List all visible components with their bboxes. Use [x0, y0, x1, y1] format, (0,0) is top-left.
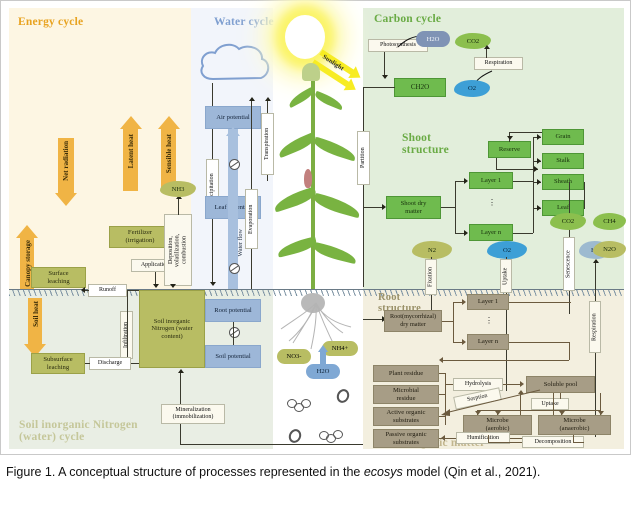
o2-cloud-carbon: O2	[454, 80, 490, 97]
stalk-box: Stalk	[542, 153, 584, 169]
anaerobic-down	[573, 435, 574, 442]
stalk-arrowhead	[537, 158, 541, 164]
discharge-label: Discharge	[89, 357, 131, 370]
uptake-arrow-d	[598, 411, 604, 415]
runoff-right-line	[127, 290, 139, 291]
grain-box: Grain	[542, 129, 584, 145]
root-soil-connector	[233, 322, 234, 345]
uptake-arrow-c	[559, 411, 565, 415]
root-uptake-arrow	[320, 351, 326, 366]
water-flow-label: Water flow	[237, 229, 244, 257]
maize-tassel-icon	[302, 63, 320, 81]
respiration-label-soil: Respiration	[589, 301, 601, 353]
shoot-organ-trunk	[533, 137, 534, 233]
plant-residue-out	[439, 373, 445, 374]
runoff-label: Runoff	[88, 284, 127, 297]
reserve-to-grain-line	[509, 132, 542, 133]
root-branch-h	[442, 321, 453, 322]
figure-caption: Figure 1. A conceptual structure of proc…	[6, 464, 627, 481]
decomposition-to-aerobic	[488, 442, 522, 443]
microbe-doodle-3	[301, 399, 311, 408]
soil-inorganic-n-box: Soil inorganic Nitrogen (water content)	[139, 290, 205, 368]
hydrolysis-to-soluble	[503, 384, 521, 385]
aerobic-to-resp	[520, 393, 521, 415]
shoot-layer1-arrowhead	[464, 178, 468, 184]
layer1-out-line	[513, 181, 533, 182]
plant-residue-arrowhead	[439, 357, 443, 363]
sensible-heat-label: Sensible heat	[165, 134, 173, 173]
aerobic-resp-arrowhead	[518, 390, 524, 394]
sun-icon	[285, 15, 325, 59]
root-layers-ellipsis: ⋮	[485, 318, 493, 324]
precipitation-arrowhead	[210, 282, 216, 286]
soil-heat-label: Soil heat	[32, 301, 40, 327]
no3-pill: NO3-	[277, 349, 311, 364]
soluble-down	[560, 393, 561, 399]
air-potential-box: Air potential	[205, 106, 261, 129]
runoff-arrowhead	[81, 287, 85, 293]
latent-heat-label: Latent heat	[127, 134, 135, 168]
shoot-dry-matter-box: Shoot dry matter	[386, 196, 441, 219]
shoot-layern-arrowhead	[464, 230, 468, 236]
reserve-bottom-arrowhead	[534, 166, 538, 172]
shoot-branch-v	[455, 181, 456, 233]
deposition-up-line	[178, 199, 179, 215]
reserve-box: Reserve	[488, 141, 531, 158]
soluble-pool-arrowhead	[520, 381, 524, 387]
root-layern-arrowhead	[462, 339, 466, 345]
fertilizer-box: Fertilizer (irrigation)	[109, 226, 171, 248]
ch2o-to-partition-line	[363, 87, 395, 88]
ch4-cloud: CH4	[593, 213, 626, 230]
nh3-cloud: NH3	[160, 181, 196, 197]
respiration-soil-arrowhead	[593, 259, 599, 263]
subsurface-leaching-box: Subsurface leaching	[31, 353, 85, 374]
latent-heat-head	[120, 116, 142, 129]
deposition-down-arrowhead	[170, 284, 176, 288]
n2-cloud: N2	[412, 241, 452, 259]
h2o-pill-root: H2O	[306, 364, 340, 379]
humification-arrowhead	[441, 435, 445, 441]
mineralization-label: Mineralization (immobilization)	[161, 404, 225, 424]
n2o-cloud: N2O	[593, 241, 626, 258]
plant-residue-box: Plant residue	[373, 365, 439, 382]
transpiration-label: Transpiration	[261, 113, 274, 175]
model-name: ecosys	[364, 465, 403, 479]
root-layer-n-box: Layer n	[467, 334, 509, 350]
shoot-branch-h	[441, 207, 455, 208]
fixation-label: Fixation	[425, 259, 437, 295]
residue-to-hydrolysis	[445, 384, 453, 385]
leaf-out-line	[584, 208, 585, 209]
water-flow-head	[226, 127, 240, 136]
root-potential-box: Root potential	[205, 299, 261, 322]
microbial-residue-box: Microbial residue	[373, 385, 439, 404]
carbon-cycle-title: Carbon cycle	[374, 13, 441, 25]
figure-diagram: Energy cycle Water cycle Carbon cycle Sh…	[0, 0, 631, 455]
layern-out-line	[513, 233, 533, 234]
sorption-arrow-line	[441, 389, 541, 417]
application-arrowhead	[153, 284, 159, 288]
leaf-arrowhead	[537, 205, 541, 211]
sheath-box: Sheath	[542, 174, 584, 190]
water-cycle-title: Water cycle	[214, 16, 274, 28]
partition-label: Partition	[357, 131, 370, 185]
microbe-anaerobic-box: Microbe (anaerobic)	[538, 415, 611, 435]
net-radiation-arrow-head	[55, 193, 77, 206]
partition-vertical-line	[363, 87, 364, 287]
root-branch-v	[453, 302, 454, 342]
canopy-storage-head	[16, 225, 38, 238]
senescence-to-residue-v	[569, 342, 570, 360]
soluble-right-down	[600, 393, 601, 410]
respiration-arrowhead	[484, 45, 490, 49]
active-organic-substrates-box: Active organic substrates	[373, 407, 439, 426]
resistor-icon-root-leaf	[229, 263, 240, 274]
shoot-layers-ellipsis: ⋮	[488, 200, 496, 206]
root-layern-out	[509, 342, 569, 343]
mineralization-down-line	[180, 424, 181, 444]
reserve-down-arrowhead	[507, 136, 513, 140]
root-layer1-out	[509, 302, 571, 303]
o2-cloud-gases: O2	[487, 241, 527, 259]
net-radiation-label: Net radiation	[62, 141, 70, 181]
energy-cycle-title: Energy cycle	[18, 16, 83, 28]
evaporation-label: Evaporation	[245, 189, 258, 249]
photosynthesis-arrowhead	[382, 75, 388, 79]
surface-leaching-box: Surface leaching	[31, 267, 86, 288]
root-dry-matter-box: Root(mycorrhizal) dry matter	[384, 310, 442, 332]
soil-potential-box: Soil potential	[205, 345, 261, 368]
maize-ear-icon	[304, 169, 312, 188]
partition-to-shoot-line	[363, 207, 383, 208]
senescence-label: Senescence	[563, 237, 575, 291]
mineralization-arrowhead	[178, 369, 184, 373]
resistor-icon-leaf-air	[229, 159, 240, 170]
uptake-arrow-a	[475, 411, 481, 415]
uptake-arrow-b	[495, 411, 501, 415]
transpiration-arrowhead	[265, 97, 271, 101]
ch2o-box: CH2O	[394, 78, 446, 97]
respiration-up-line	[486, 49, 487, 58]
cloud-icon	[197, 41, 273, 83]
microbe-doodle-8	[333, 430, 343, 439]
shoot-layer-1-box: Layer 1	[469, 172, 513, 189]
shoot-structure-title: Shoot structure	[402, 132, 449, 156]
root-layer-1-box: Layer 1	[467, 294, 509, 310]
mineralization-to-som	[180, 444, 363, 445]
root-layer1-arrowhead	[462, 299, 466, 305]
humification-to-passive	[445, 438, 456, 439]
mineralization-up-line	[180, 373, 181, 404]
discharge-to-subsurface	[85, 363, 90, 364]
soil-n-cycle-title: Soil inorganic Nitrogen (water) cycle	[19, 419, 138, 443]
senescence-to-residue-h	[443, 360, 569, 361]
passive-organic-substrates-box: Passive organic substrates	[373, 429, 439, 448]
shoot-layer-n-box: Layer n	[469, 224, 513, 241]
decomposition-to-anaerobic	[573, 442, 584, 443]
partition-to-root-line	[363, 319, 383, 320]
uptake-label-gas: Uptake	[500, 259, 512, 293]
h2o-pill-carbon: H2O	[416, 31, 450, 47]
evaporation-arrowhead	[249, 97, 255, 101]
humification-in	[510, 438, 522, 439]
deposition-label: Deposition, volatilization, combustion	[164, 214, 192, 286]
sheath-right-h	[584, 182, 585, 183]
photosynthesis-down-line	[384, 52, 385, 76]
sheath-right-line	[584, 182, 585, 208]
resistor-icon-soil-root	[229, 327, 240, 338]
reserve-bottom-h	[496, 169, 538, 170]
anaerobic-resp-up	[553, 393, 554, 415]
runoff-to-leaching	[85, 290, 89, 291]
sheath-arrowhead	[537, 179, 541, 185]
grain-arrowhead	[537, 134, 541, 140]
root-uptake-arrowhead	[318, 345, 328, 352]
infiltration-line	[127, 290, 128, 363]
co2-cloud-gases: CO2	[550, 213, 586, 230]
sensible-heat-head	[158, 116, 180, 129]
aerobic-down	[488, 435, 489, 442]
